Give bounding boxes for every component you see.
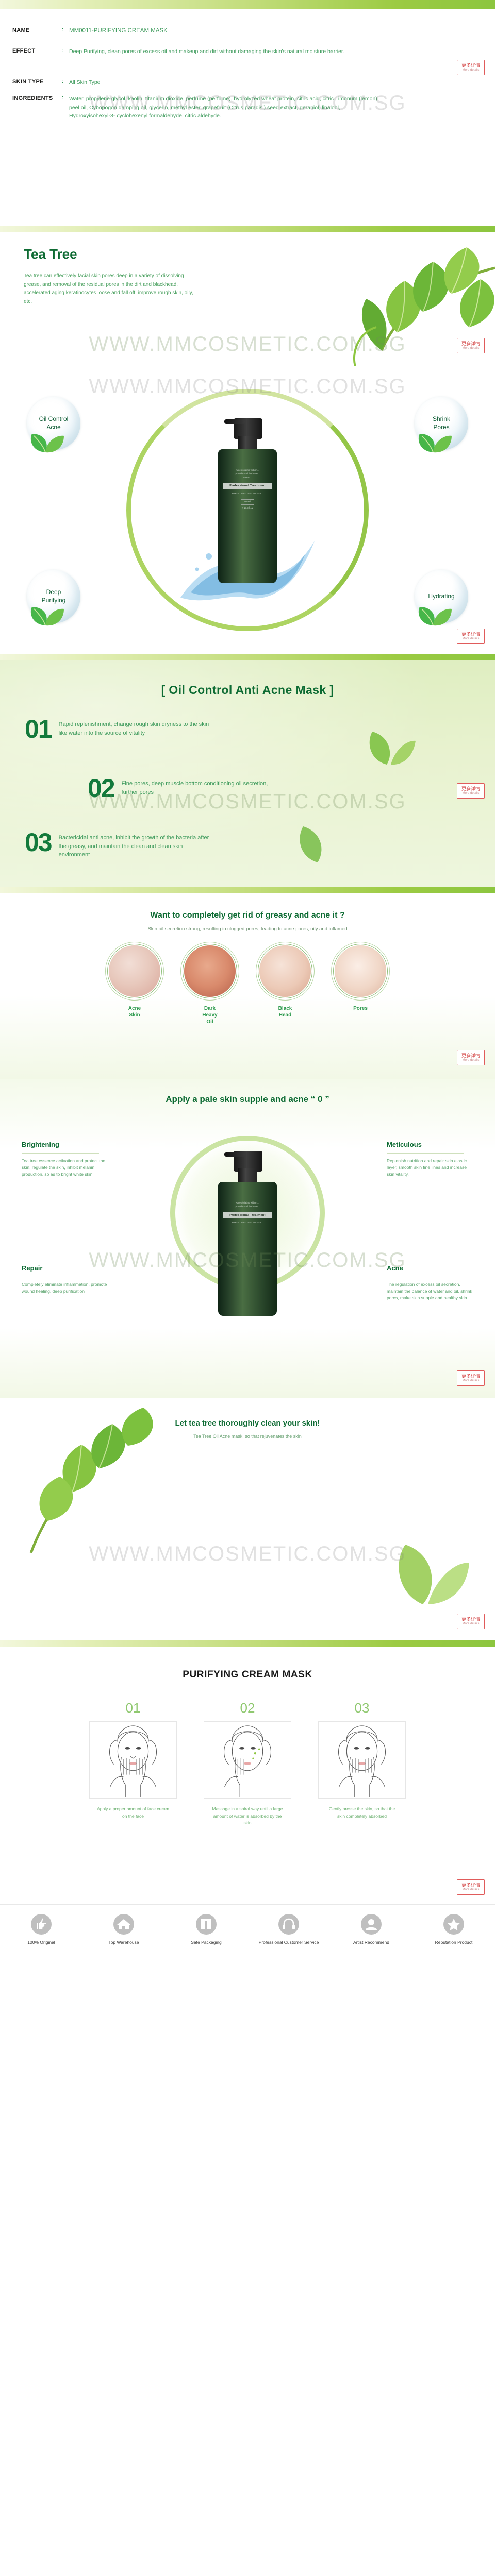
step-number: 01 <box>81 1700 185 1716</box>
top-gradient-band <box>0 0 495 9</box>
skin-problem-dark-heavy-oil: Dark Heavy Oil <box>179 945 241 1025</box>
skin-photo-blackhead <box>259 945 311 997</box>
skin-problem-label: Pores <box>329 1005 391 1012</box>
bubble-label: Hydrating <box>428 592 454 601</box>
bottle-desc-1: An exfoliating with m... <box>223 469 272 472</box>
benefit-number: 01 <box>25 717 52 742</box>
feature-acne: Acne The regulation of excess oil secret… <box>387 1264 473 1302</box>
tea-tree-leaf-illustration <box>227 232 495 366</box>
tea-tree-title: Tea Tree <box>24 246 77 262</box>
bottle-size: 500ml <box>241 499 254 505</box>
product-detail-page: NAME : MM0011-PURIFYING CREAM MASK EFFEC… <box>0 0 495 2576</box>
more-details-en: More details <box>463 637 480 640</box>
benefit-text: Fine pores, deep muscle bottom condition… <box>122 776 276 796</box>
bottle-spout <box>224 419 245 424</box>
leaf-icon <box>29 431 65 453</box>
more-details-en: More details <box>463 1888 480 1891</box>
bottle-desc-2: providers all the bene... <box>223 472 272 476</box>
clean-skin-section: Let tea tree thoroughly clean your skin!… <box>0 1398 495 1640</box>
trust-badge-label: Reputation Product <box>412 1940 495 1946</box>
step-illustration-card <box>318 1721 406 1799</box>
more-details-cn: 更多详情 <box>461 632 480 637</box>
more-details-en: More details <box>463 1622 480 1625</box>
step-illustration-card <box>204 1721 291 1799</box>
more-details-cn: 更多详情 <box>461 1054 480 1058</box>
bottle-desc-1: An exfoliating with m... <box>223 1201 272 1205</box>
feature-title: Meticulous <box>387 1141 473 1148</box>
spec-label: NAME <box>12 27 62 36</box>
more-details-en: More details <box>463 792 480 795</box>
step-text: Massage in a spiral way until a large am… <box>196 1806 299 1827</box>
headset-icon <box>278 1914 299 1935</box>
benefits-detail-title: Apply a pale skin supple and acne “ 0 ” <box>0 1079 495 1105</box>
divider-band-2 <box>0 654 495 660</box>
feature-text: The regulation of excess oil secretion, … <box>387 1281 473 1302</box>
skin-problem-label: Dark Heavy Oil <box>179 1005 241 1025</box>
bubble-label: Shrink Pores <box>433 415 450 431</box>
trust-badge-packaging: Safe Packaging <box>165 1914 247 1946</box>
tea-tree-body: Tea tree can effectively facial skin por… <box>24 272 194 306</box>
divider-band-1 <box>0 226 495 232</box>
skin-problem-black-head: Black Head <box>254 945 316 1025</box>
more-details-en: More details <box>463 1379 480 1382</box>
usage-step-03: 03 <box>310 1700 414 1827</box>
more-details-cn: 更多详情 <box>461 342 480 346</box>
trust-badge-artist: Artist Recommend <box>330 1914 412 1946</box>
feature-title: Acne <box>387 1264 473 1272</box>
home-icon <box>113 1914 134 1935</box>
package-icon <box>196 1914 217 1935</box>
bubble-oil-control-acne: Oil Control Acne <box>27 397 80 450</box>
divider-band-3 <box>0 887 495 893</box>
feature-rule <box>387 1153 464 1154</box>
benefits-title: [ Oil Control Anti Acne Mask ] <box>0 660 495 697</box>
benefit-text: Bactericidal anti acne, inhibit the grow… <box>59 831 213 859</box>
usage-steps-title: PURIFYING CREAM MASK <box>0 1647 495 1681</box>
more-details-badge[interactable]: 更多详情 More details <box>457 1370 485 1386</box>
spec-row-skintype: SKIN TYPE : All Skin Type <box>12 78 483 87</box>
artist-icon <box>361 1914 382 1935</box>
leaf-icon <box>417 431 453 453</box>
leaf-icon <box>29 604 65 626</box>
step-text: Gently presse the skin, so that the skin… <box>310 1806 414 1820</box>
more-details-badge[interactable]: 更多详情 More details <box>457 629 485 644</box>
bubble-label: Oil Control Acne <box>39 415 69 431</box>
bottle-feature-section: An exfoliating with m... providers all t… <box>0 366 495 654</box>
spec-label: SKIN TYPE <box>12 78 62 87</box>
step-text: Apply a proper amount of face cream on t… <box>81 1806 185 1820</box>
usage-step-02: 02 <box>196 1700 299 1827</box>
more-details-badge[interactable]: 更多详情 More details <box>457 60 485 75</box>
more-details-badge[interactable]: 更多详情 More details <box>457 338 485 353</box>
leaf-decoration-right <box>361 722 418 769</box>
skin-problem-label: Black Head <box>254 1005 316 1019</box>
skin-problems-title: Want to completely get rid of greasy and… <box>0 893 495 920</box>
specification-section: NAME : MM0011-PURIFYING CREAM MASK EFFEC… <box>0 9 495 226</box>
more-details-en: More details <box>463 69 480 72</box>
trust-badge-original: 100% Original <box>0 1914 82 1946</box>
benefit-item-01: 01 Rapid replenishment, change rough ski… <box>25 717 213 742</box>
feature-title: Repair <box>22 1264 108 1272</box>
skin-photo-dark-oil <box>184 945 236 997</box>
bottle-origin: PARIS · SWITZERLAND · A... <box>223 1221 272 1225</box>
more-details-en: More details <box>463 1059 480 1062</box>
more-details-cn: 更多详情 <box>461 1374 480 1379</box>
spec-value-effect: Deep Purifying, clean pores of excess oi… <box>69 47 344 56</box>
spec-value-skintype: All Skin Type <box>69 78 101 87</box>
feature-repair: Repair Completely eliminate inflammation… <box>22 1264 108 1295</box>
divider-band-4 <box>0 1640 495 1647</box>
skin-problem-acne-skin: Acne Skin <box>104 945 166 1025</box>
usage-steps-section: PURIFYING CREAM MASK 01 <box>0 1647 495 1904</box>
skin-problems-subtitle: Skin oil secretion strong, resulting in … <box>0 926 495 932</box>
usage-steps-row: 01 <box>0 1700 495 1827</box>
spec-value-name: MM0011-PURIFYING CREAM MASK <box>69 27 168 36</box>
product-bottle: An exfoliating with m... providers all t… <box>218 1146 277 1316</box>
more-details-cn: 更多详情 <box>461 787 480 791</box>
step-illustration-card <box>89 1721 177 1799</box>
product-bottle: An exfoliating with m... providers all t… <box>218 413 277 583</box>
trust-badge-label: Artist Recommend <box>330 1940 412 1946</box>
spec-colon: : <box>62 78 69 87</box>
skin-problem-label: Acne Skin <box>104 1005 166 1019</box>
more-details-cn: 更多详情 <box>461 63 480 68</box>
benefit-item-03: 03 Bactericidal anti acne, inhibit the g… <box>25 831 213 859</box>
bottle-professional-band: Professional Treatment <box>223 483 272 489</box>
trust-badge-label: Professional Customer Service <box>247 1940 330 1946</box>
feature-text: Completely eliminate inflammation, promo… <box>22 1281 108 1295</box>
face-press-icon <box>319 1722 405 1798</box>
face-apply-icon <box>90 1722 176 1798</box>
skin-photo-acne <box>109 945 160 997</box>
feature-text: Replenish nutrition and repair skin elas… <box>387 1158 473 1178</box>
more-details-badge[interactable]: 更多详情 More details <box>457 1050 485 1065</box>
trust-badges-footer: 100% Original Top Warehouse Safe Packagi… <box>0 1904 495 1971</box>
bottle-size-oz: ℮ 17.5 fl.oz <box>223 506 272 510</box>
trust-badge-label: Top Warehouse <box>82 1940 165 1946</box>
tea-tree-section: Tea Tree Tea tree can effectively facial… <box>0 232 495 366</box>
trust-badge-warehouse: Top Warehouse <box>82 1914 165 1946</box>
spec-row-name: NAME : MM0011-PURIFYING CREAM MASK <box>12 27 483 36</box>
more-details-cn: 更多详情 <box>461 1617 480 1622</box>
usage-step-01: 01 <box>81 1700 185 1827</box>
benefit-text: Rapid replenishment, change rough skin d… <box>59 717 213 737</box>
more-details-en: More details <box>463 347 480 350</box>
feature-title: Brightening <box>22 1141 108 1148</box>
trust-badge-label: Safe Packaging <box>165 1940 247 1946</box>
bottle-spout <box>224 1152 245 1157</box>
trust-badge-label: 100% Original <box>0 1940 82 1946</box>
tea-branch-illustration <box>10 1403 165 1558</box>
bubble-shrink-pores: Shrink Pores <box>415 397 468 450</box>
feature-text: Tea tree essence activation and protect … <box>22 1158 108 1178</box>
benefits-section: [ Oil Control Anti Acne Mask ] 01 Rapid … <box>0 660 495 887</box>
benefit-number: 03 <box>25 831 52 855</box>
spec-row-effect: EFFECT : Deep Purifying, clean pores of … <box>12 47 483 56</box>
spec-row-ingredients: INGREDIENTS : Water, propylene glycol, k… <box>12 95 483 120</box>
bubble-hydrating: Hydrating <box>415 570 468 623</box>
more-details-cn: 更多详情 <box>461 1883 480 1888</box>
face-massage-icon <box>204 1722 291 1798</box>
trust-badge-service: Professional Customer Service <box>247 1914 330 1946</box>
bubble-label: Deep Purifying <box>42 588 66 604</box>
spec-colon: : <box>62 27 69 36</box>
more-details-badge[interactable]: 更多详情 More details <box>457 783 485 799</box>
benefit-number: 02 <box>88 776 114 801</box>
trust-badge-reputation: Reputation Product <box>412 1914 495 1946</box>
bottle-origin: PARIS · SWITZERLAND · A... <box>223 492 272 496</box>
bottle-professional-band: Professional Treatment <box>223 1212 272 1218</box>
bottle-label: An exfoliating with m... providers all t… <box>223 1201 272 1225</box>
bottle-label: An exfoliating with m... providers all t… <box>223 469 272 510</box>
feature-meticulous: Meticulous Replenish nutrition and repai… <box>387 1141 473 1178</box>
step-number: 03 <box>310 1700 414 1716</box>
benefits-detail-section: Apply a pale skin supple and acne “ 0 ” … <box>0 1079 495 1398</box>
more-details-badge[interactable]: 更多详情 More details <box>457 1614 485 1629</box>
feature-rule <box>22 1277 99 1277</box>
leaf-icon <box>417 604 453 626</box>
skin-photo-pores <box>335 945 386 997</box>
leaf-decoration-bottom-right <box>371 1527 474 1609</box>
skin-problems-section: Want to completely get rid of greasy and… <box>0 893 495 1079</box>
bottle-desc-2: providers all the bene... <box>223 1205 272 1209</box>
spec-colon: : <box>62 95 69 120</box>
feature-rule <box>22 1153 99 1154</box>
feature-rule <box>387 1277 464 1277</box>
spec-label: EFFECT <box>12 47 62 56</box>
more-details-badge[interactable]: 更多详情 More details <box>457 1879 485 1895</box>
leaf-decoration-bottom <box>289 815 351 867</box>
spec-value-ingredients: Water, propylene glycol, kaolin, titaniu… <box>69 95 378 120</box>
star-icon <box>443 1914 464 1935</box>
thumbs-up-icon <box>31 1914 52 1935</box>
bubble-deep-purifying: Deep Purifying <box>27 570 80 623</box>
benefit-item-02: 02 Fine pores, deep muscle bottom condit… <box>88 776 276 801</box>
spec-colon: : <box>62 47 69 56</box>
step-number: 02 <box>196 1700 299 1716</box>
skin-problems-row: Acne Skin Dark Heavy Oil Black Head Pore… <box>0 945 495 1025</box>
skin-problem-pores: Pores <box>329 945 391 1025</box>
feature-brightening: Brightening Tea tree essence activation … <box>22 1141 108 1178</box>
spec-label: INGREDIENTS <box>12 95 62 120</box>
bottle-desc-3: treatm... <box>223 476 272 480</box>
